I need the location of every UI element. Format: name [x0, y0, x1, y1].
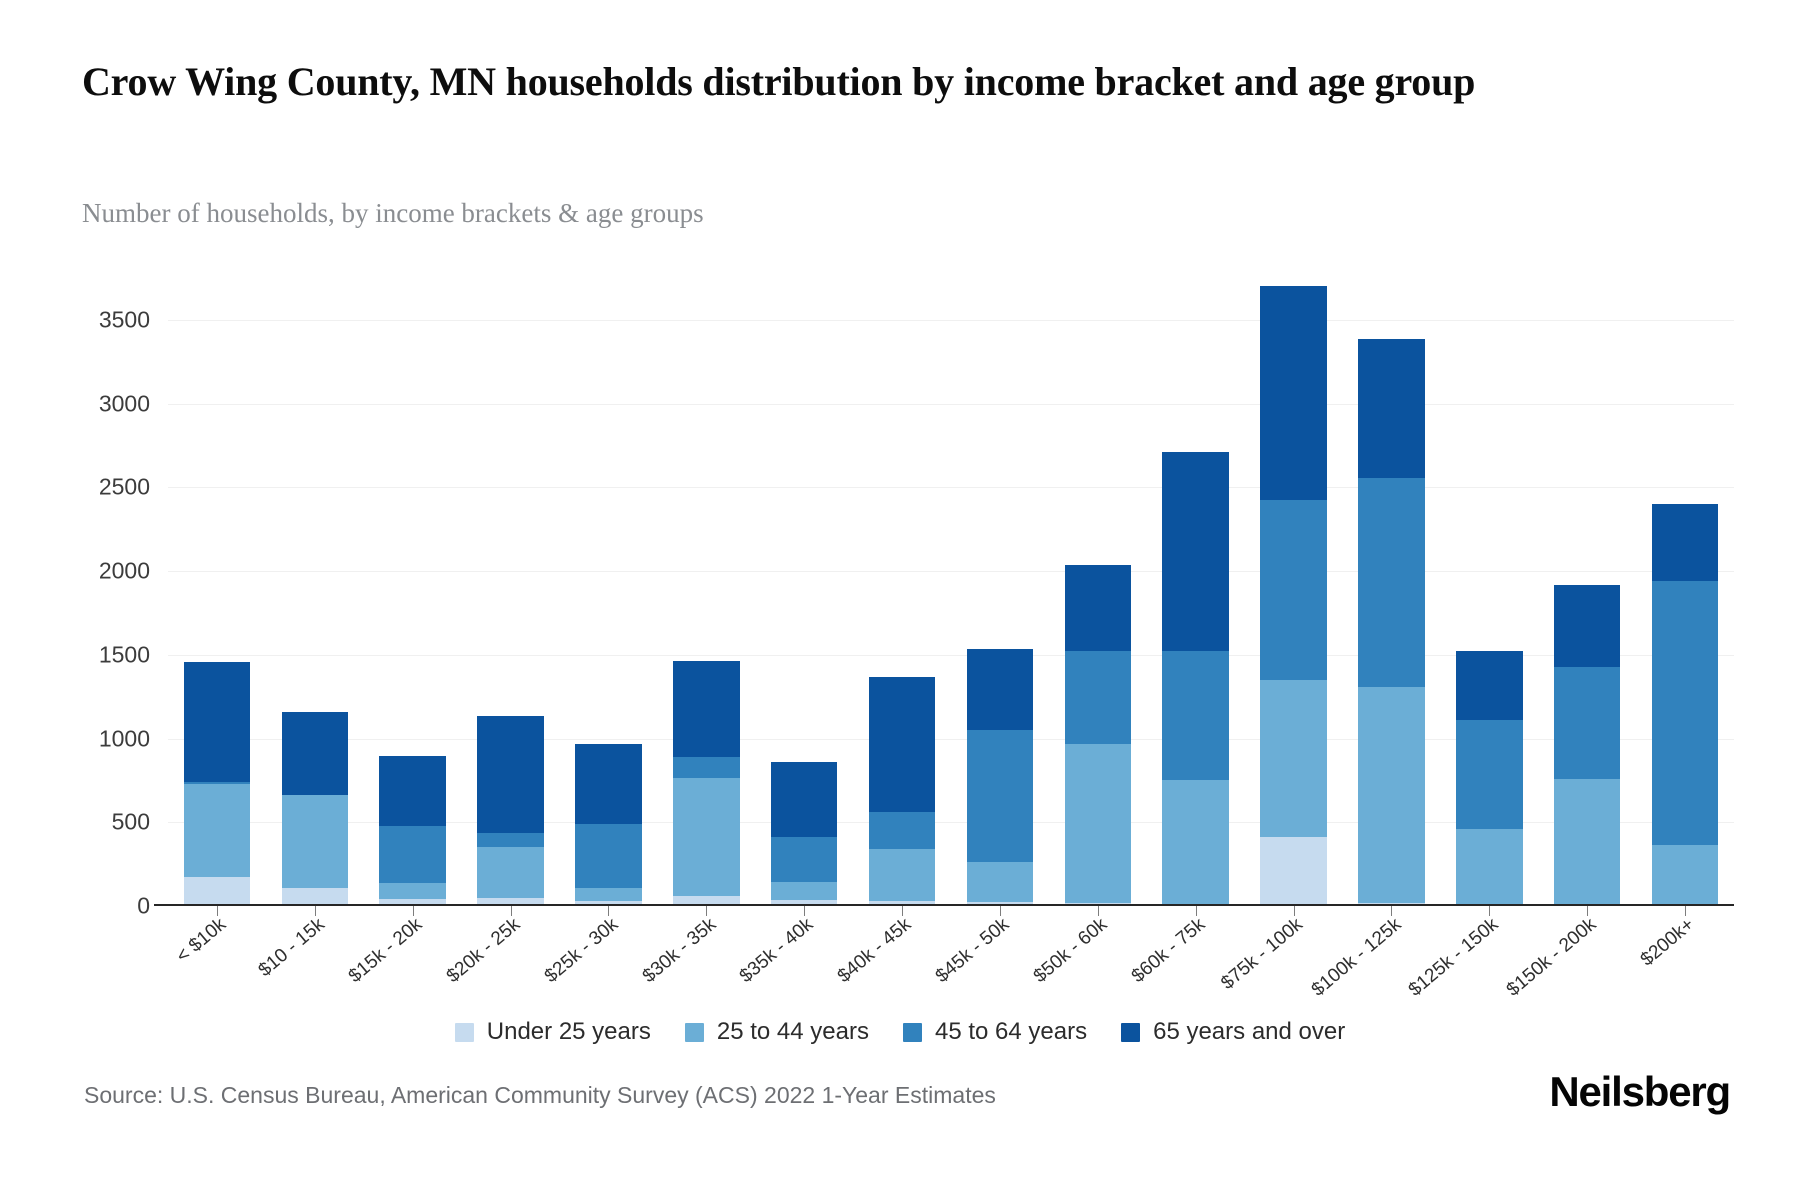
bar-segment[interactable]	[282, 712, 349, 796]
bar-segment[interactable]	[869, 849, 936, 901]
bar-segment[interactable]	[1065, 744, 1132, 903]
bar-segment[interactable]	[1162, 452, 1229, 650]
bar-segment[interactable]	[1652, 504, 1719, 580]
stacked-bar[interactable]	[1652, 504, 1719, 906]
stacked-bar[interactable]	[673, 661, 740, 906]
bar-segment[interactable]	[1554, 779, 1621, 904]
stacked-bar[interactable]	[184, 662, 251, 906]
legend-swatch-icon	[903, 1023, 922, 1042]
x-axis-tick-label: $45k - 50k	[932, 914, 1014, 988]
y-axis-tick-label: 2500	[99, 474, 150, 501]
bar-segment[interactable]	[575, 888, 642, 901]
stacked-bar[interactable]	[869, 677, 936, 906]
bar-segment[interactable]	[1554, 585, 1621, 667]
neilsberg-logo: Neilsberg	[1549, 1068, 1730, 1116]
bar-segment[interactable]	[282, 795, 349, 887]
stacked-bar[interactable]	[967, 649, 1034, 906]
chart-legend: Under 25 years25 to 44 years45 to 64 yea…	[0, 1018, 1800, 1046]
bar-segment[interactable]	[967, 862, 1034, 902]
legend-label: 25 to 44 years	[717, 1018, 869, 1046]
gridline	[168, 906, 1734, 907]
bar-segment[interactable]	[184, 662, 251, 782]
x-axis-tick-label: $10 - 15k	[254, 914, 329, 982]
y-axis-tick-label: 1000	[99, 725, 150, 752]
bar-group[interactable]: $30k - 35k	[657, 278, 755, 906]
legend-swatch-icon	[685, 1023, 704, 1042]
bar-segment[interactable]	[1065, 651, 1132, 744]
bar-group[interactable]: $50k - 60k	[1049, 278, 1147, 906]
bar-segment[interactable]	[673, 661, 740, 756]
bar-segment[interactable]	[673, 778, 740, 895]
bar-group[interactable]: $200k+	[1636, 278, 1734, 906]
bar-segment[interactable]	[477, 847, 544, 898]
stacked-bar[interactable]	[1065, 565, 1132, 906]
bar-segment[interactable]	[1358, 687, 1425, 903]
bar-group[interactable]: $40k - 45k	[853, 278, 951, 906]
legend-label: 65 years and over	[1153, 1018, 1345, 1046]
x-axis-tick-label: $15k - 20k	[345, 914, 427, 988]
bar-group[interactable]: $75k - 100k	[1245, 278, 1343, 906]
legend-item[interactable]: 65 years and over	[1121, 1018, 1345, 1046]
bar-group[interactable]: $25k - 30k	[560, 278, 658, 906]
source-note: Source: U.S. Census Bureau, American Com…	[84, 1082, 996, 1109]
bar-segment[interactable]	[869, 677, 936, 813]
bar-segment[interactable]	[771, 882, 838, 900]
stacked-bar[interactable]	[282, 712, 349, 906]
bar-segment[interactable]	[1456, 720, 1523, 829]
x-axis-tick-label: $30k - 35k	[638, 914, 720, 988]
bar-group[interactable]: < $10k	[168, 278, 266, 906]
bar-segment[interactable]	[673, 757, 740, 779]
x-axis-line	[154, 904, 1734, 906]
bar-segment[interactable]	[967, 730, 1034, 862]
bar-segment[interactable]	[1652, 581, 1719, 846]
y-axis-tick-label: 3500	[99, 306, 150, 333]
bar-segment[interactable]	[1260, 680, 1327, 837]
bar-segment[interactable]	[1260, 837, 1327, 906]
bar-group[interactable]: $10 - 15k	[266, 278, 364, 906]
page-subtitle: Number of households, by income brackets…	[82, 198, 704, 229]
x-axis-tick-label: $75k - 100k	[1217, 914, 1307, 995]
x-axis-tick-label: < $10k	[173, 914, 231, 968]
stacked-bar[interactable]	[575, 744, 642, 906]
bar-group[interactable]: $125k - 150k	[1440, 278, 1538, 906]
bar-segment[interactable]	[477, 833, 544, 847]
bar-segment[interactable]	[771, 837, 838, 882]
bar-group[interactable]: $100k - 125k	[1343, 278, 1441, 906]
stacked-bar[interactable]	[1358, 339, 1425, 906]
stacked-bar[interactable]	[477, 716, 544, 906]
x-axis-tick-label: $100k - 125k	[1307, 914, 1405, 1001]
stacked-bar[interactable]	[1456, 651, 1523, 906]
legend-swatch-icon	[455, 1023, 474, 1042]
bar-segment[interactable]	[184, 784, 251, 877]
plot-area: 0500100015002000250030003500 < $10k$10 -…	[168, 278, 1734, 906]
bar-group[interactable]: $15k - 20k	[364, 278, 462, 906]
bar-segment[interactable]	[477, 716, 544, 832]
y-axis-tick-label: 0	[137, 893, 150, 920]
stacked-bar[interactable]	[1260, 286, 1327, 906]
bar-group[interactable]: $60k - 75k	[1147, 278, 1245, 906]
bar-group[interactable]: $35k - 40k	[755, 278, 853, 906]
x-axis-tick-label: $60k - 75k	[1128, 914, 1210, 988]
y-axis-tick-label: 3000	[99, 390, 150, 417]
bar-group[interactable]: $150k - 200k	[1538, 278, 1636, 906]
stacked-bar[interactable]	[771, 762, 838, 906]
y-axis-tick-label: 2000	[99, 558, 150, 585]
bar-segment[interactable]	[1065, 565, 1132, 650]
bar-segment[interactable]	[1162, 651, 1229, 780]
bar-segment[interactable]	[1162, 780, 1229, 904]
y-axis-tick-label: 500	[112, 809, 150, 836]
chart-page: Crow Wing County, MN households distribu…	[0, 0, 1800, 1200]
bar-segment[interactable]	[1652, 845, 1719, 904]
bar-segment[interactable]	[1554, 667, 1621, 779]
legend-item[interactable]: 25 to 44 years	[685, 1018, 869, 1046]
bar-segment[interactable]	[575, 824, 642, 888]
bar-segment[interactable]	[869, 812, 936, 849]
x-axis-tick-label: $125k - 150k	[1405, 914, 1503, 1001]
x-axis-tick-label: $40k - 45k	[834, 914, 916, 988]
legend-label: Under 25 years	[487, 1018, 651, 1046]
bar-group[interactable]: $45k - 50k	[951, 278, 1049, 906]
bar-segment[interactable]	[1260, 500, 1327, 680]
page-title: Crow Wing County, MN households distribu…	[82, 58, 1742, 107]
x-axis-tick-label: $35k - 40k	[736, 914, 818, 988]
x-axis-tick-label: $20k - 25k	[443, 914, 525, 988]
x-axis-tick-label: $200k+	[1637, 914, 1699, 971]
legend-swatch-icon	[1121, 1023, 1140, 1042]
bar-series-container: < $10k$10 - 15k$15k - 20k$20k - 25k$25k …	[168, 278, 1734, 906]
bar-segment[interactable]	[1358, 339, 1425, 478]
bar-segment[interactable]	[379, 756, 446, 825]
bar-segment[interactable]	[1358, 478, 1425, 687]
bar-segment[interactable]	[1260, 286, 1327, 500]
legend-item[interactable]: 45 to 64 years	[903, 1018, 1087, 1046]
bar-segment[interactable]	[967, 649, 1034, 730]
stacked-bar[interactable]	[379, 756, 446, 906]
bar-segment[interactable]	[1456, 651, 1523, 720]
y-axis-tick-label: 1500	[99, 641, 150, 668]
bar-segment[interactable]	[575, 744, 642, 824]
bar-segment[interactable]	[1456, 829, 1523, 904]
bar-segment[interactable]	[184, 877, 251, 906]
x-axis-tick-label: $150k - 200k	[1503, 914, 1601, 1001]
bar-segment[interactable]	[379, 826, 446, 884]
legend-label: 45 to 64 years	[935, 1018, 1087, 1046]
bar-group[interactable]: $20k - 25k	[462, 278, 560, 906]
bar-segment[interactable]	[379, 883, 446, 899]
x-axis-tick-label: $50k - 60k	[1030, 914, 1112, 988]
stacked-bar[interactable]	[1162, 452, 1229, 906]
x-axis-tick-label: $25k - 30k	[540, 914, 622, 988]
legend-item[interactable]: Under 25 years	[455, 1018, 651, 1046]
bar-segment[interactable]	[771, 762, 838, 837]
stacked-bar[interactable]	[1554, 585, 1621, 906]
